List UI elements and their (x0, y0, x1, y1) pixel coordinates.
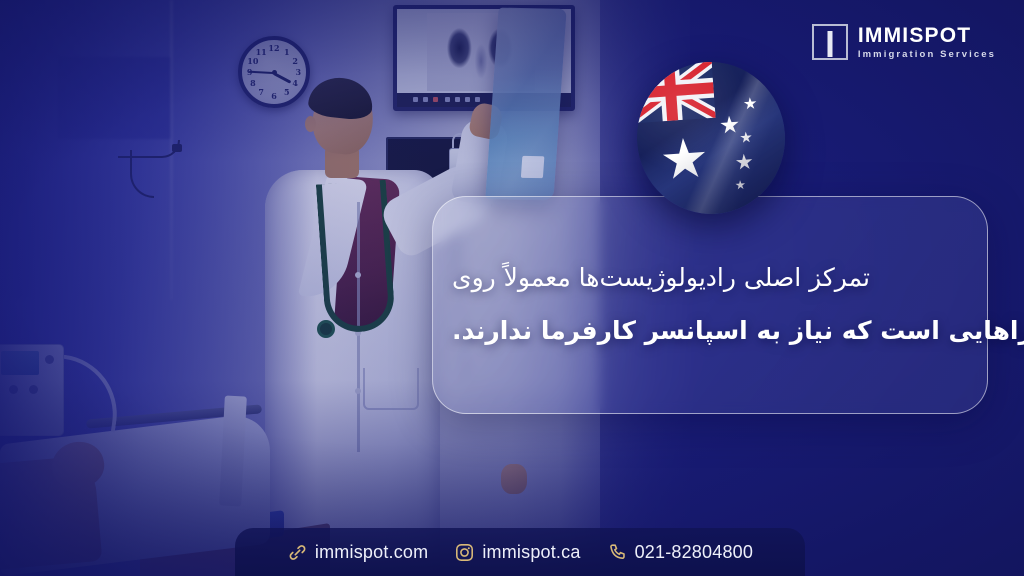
footer-label-instagram: immispot.ca (482, 542, 580, 563)
immispot-i-mark-icon (812, 24, 848, 60)
footer-item-instagram[interactable]: immispot.ca (454, 542, 580, 563)
headline-text-block: تمرکز اصلی رادیولوژیست‌ها معمولاً روی وی… (432, 196, 988, 414)
logo-text-block: IMMISPOT Immigration Services (858, 25, 996, 60)
phone-icon (607, 542, 628, 563)
logo-tagline: Immigration Services (858, 50, 996, 60)
headline-line-2-emphasis: نیاز به اسپانسر کارفرما ندارند. (452, 316, 833, 345)
footer-label-phone: 021-82804800 (635, 542, 754, 563)
headline-line-2-prefix: ویزاهایی است که (833, 316, 1024, 345)
link-icon (287, 542, 308, 563)
headline-line-1: تمرکز اصلی رادیولوژیست‌ها معمولاً روی (452, 259, 870, 298)
contact-footer-bar: immispot.com immispot.ca 021-82804800 (235, 528, 805, 576)
brand-logo[interactable]: IMMISPOT Immigration Services (812, 24, 996, 60)
footer-label-website: immispot.com (315, 542, 428, 563)
footer-item-phone[interactable]: 021-82804800 (607, 542, 754, 563)
footer-item-website[interactable]: immispot.com (287, 542, 428, 563)
logo-name: IMMISPOT (858, 25, 996, 46)
banner-root: 12 1 2 3 4 5 6 7 8 9 10 11 (0, 0, 1024, 576)
instagram-icon (454, 542, 475, 563)
headline-line-2: ویزاهایی است که نیاز به اسپانسر کارفرما … (452, 312, 1024, 351)
